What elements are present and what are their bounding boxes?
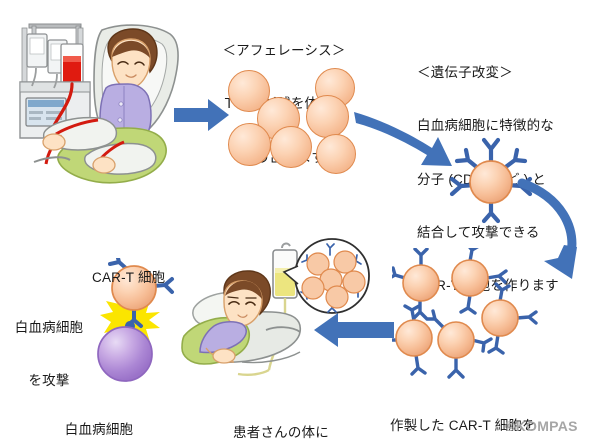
car-t-cell — [334, 251, 356, 273]
leukemia-cell — [98, 327, 152, 381]
label-car-t-cell-text: CAR-T 細胞 — [92, 269, 212, 287]
infusion-line-1: 患者さんの体に — [205, 424, 357, 442]
t-cell — [270, 126, 312, 168]
car-t-cell — [302, 277, 324, 299]
infusion-caption: 患者さんの体に 戻します — [205, 388, 357, 443]
car-t-cell — [482, 300, 518, 336]
t-cell — [228, 123, 271, 166]
apheresis-machine-patient-illustration — [2, 12, 182, 197]
car-t-cell — [343, 271, 365, 293]
label-leukemia-cell: 白血病細胞 — [44, 385, 154, 443]
apheresis-heading: ＜アフェレーシス＞ — [192, 42, 376, 60]
t-cell — [316, 134, 356, 174]
car-t-cell-cluster — [392, 248, 542, 380]
car-t-cell — [326, 286, 348, 308]
t-cell — [306, 95, 349, 138]
car-t-therapy-diagram: ＜アフェレーシス＞ Ｔリンパ球を体外に 取り出します ＜遺伝子改変＞ 白血病細胞… — [0, 0, 601, 443]
car-t-cell — [396, 320, 432, 356]
label-leukemia-cell-text: 白血病細胞 — [44, 421, 154, 439]
car-t-cell — [438, 322, 474, 358]
car-t-cell — [452, 260, 488, 296]
label-attack-line-1: 白血病細胞 — [6, 319, 92, 337]
gene-modification-heading: ＜遺伝子改変＞ — [417, 64, 601, 82]
copyright-notice: ©KOMPAS — [505, 418, 578, 434]
car-t-cell — [403, 265, 439, 301]
label-car-t-cell: CAR-T 細胞 — [92, 233, 212, 322]
t-lymphocyte-cluster — [218, 68, 358, 178]
